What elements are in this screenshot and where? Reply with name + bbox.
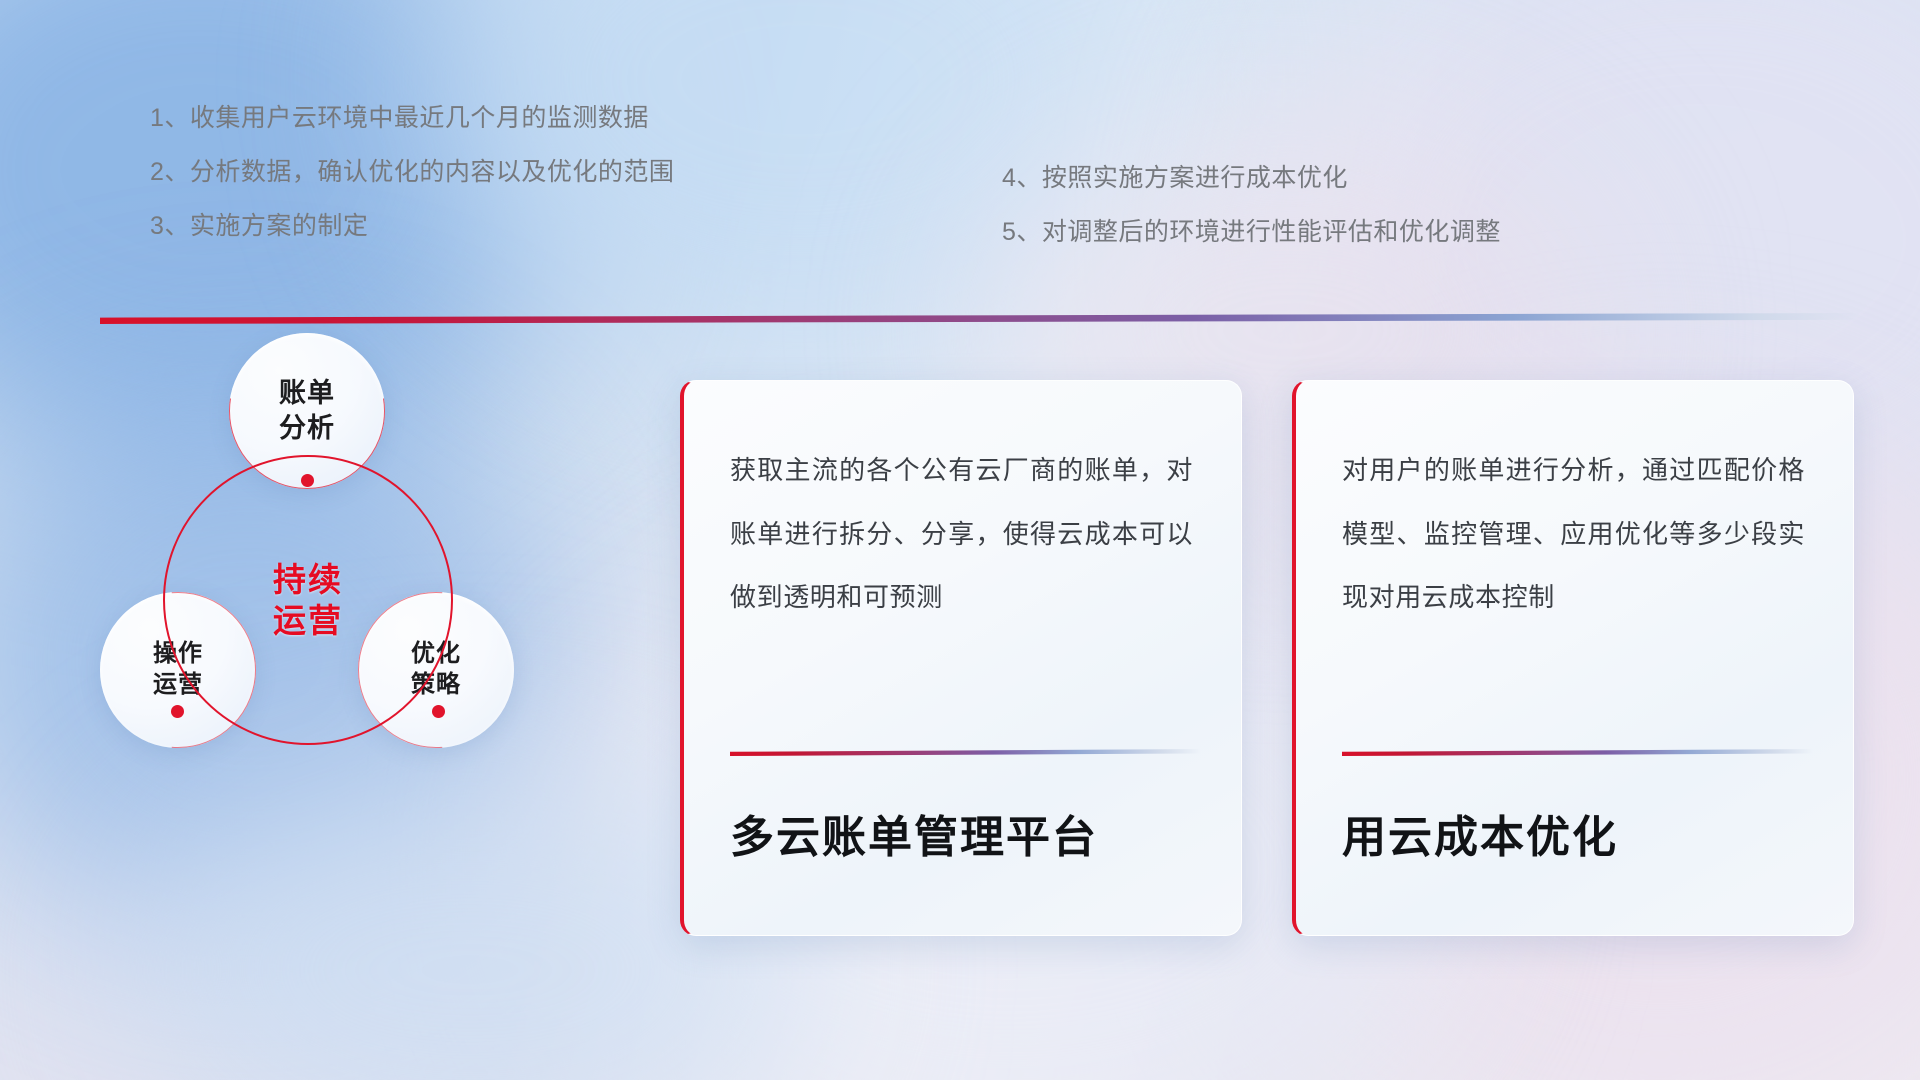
feature-card-multicloud-billing[interactable]: 获取主流的各个公有云厂商的账单，对账单进行拆分、分享，使得云成本可以做到透明和可… <box>680 380 1242 936</box>
card-divider <box>730 749 1201 756</box>
slide-canvas: 1、收集用户云环境中最近几个月的监测数据 2、分析数据，确认优化的内容以及优化的… <box>0 0 1920 1080</box>
card-divider <box>1342 749 1813 756</box>
card-body-text: 对用户的账单进行分析，通过匹配价格模型、监控管理、应用优化等多少段实现对用云成本… <box>1342 439 1805 630</box>
step-item: 3、实施方案的制定 <box>150 206 674 242</box>
steps-list-right: 4、按照实施方案进行成本优化 5、对调整后的环境进行性能评估和优化调整 <box>1002 158 1501 266</box>
feature-card-cloud-cost-optimization[interactable]: 对用户的账单进行分析，通过匹配价格模型、监控管理、应用优化等多少段实现对用云成本… <box>1292 380 1854 936</box>
venn-center-label: 持续 运营 <box>273 559 343 642</box>
venn-diagram: 账单 分析 操作 运营 优化 策略 持续 运营 <box>95 350 565 820</box>
card-title: 多云账单管理平台 <box>730 801 1201 865</box>
steps-list-left: 1、收集用户云环境中最近几个月的监测数据 2、分析数据，确认优化的内容以及优化的… <box>150 98 674 260</box>
card-title: 用云成本优化 <box>1342 801 1813 865</box>
step-item: 2、分析数据，确认优化的内容以及优化的范围 <box>150 152 674 188</box>
venn-center-label-wrap: 持续 运营 <box>163 455 453 745</box>
step-item: 1、收集用户云环境中最近几个月的监测数据 <box>150 98 674 134</box>
step-item: 5、对调整后的环境进行性能评估和优化调整 <box>1002 212 1501 248</box>
card-body-text: 获取主流的各个公有云厂商的账单，对账单进行拆分、分享，使得云成本可以做到透明和可… <box>730 439 1193 630</box>
step-item: 4、按照实施方案进行成本优化 <box>1002 158 1501 194</box>
